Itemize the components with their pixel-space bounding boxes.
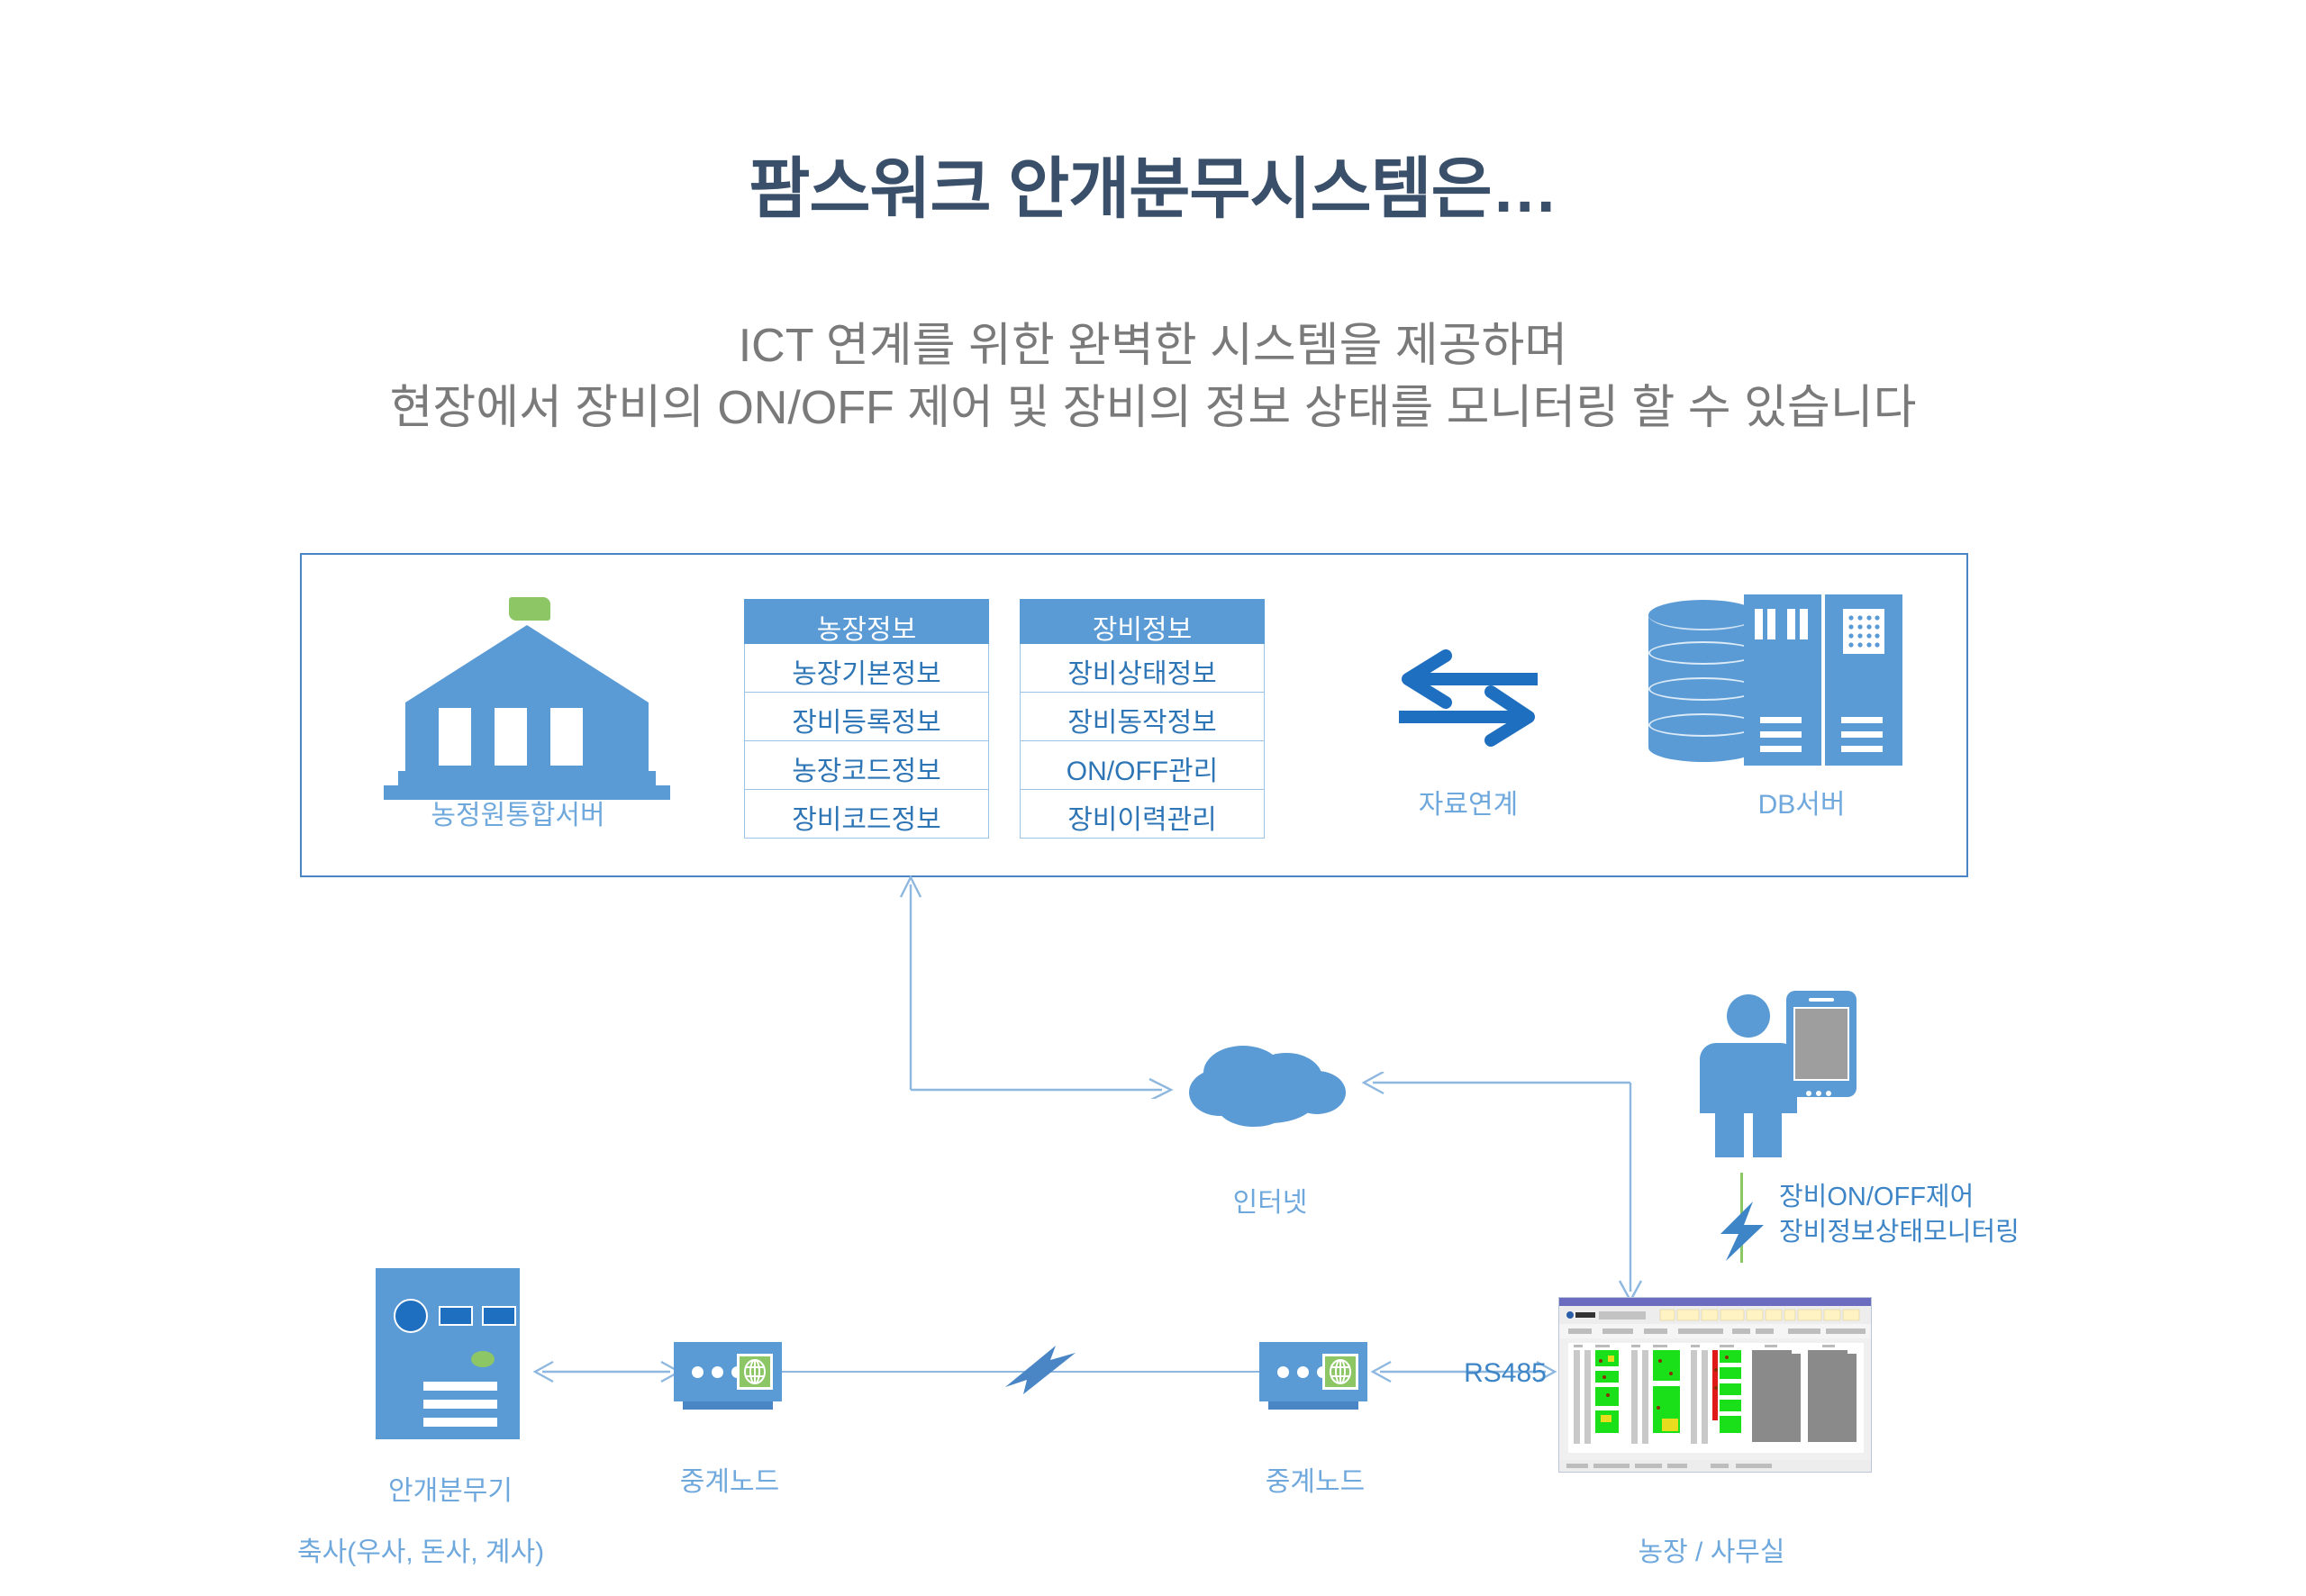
rack-indicator-icon [1767, 609, 1775, 639]
database-ring-icon [1648, 713, 1758, 737]
rack-indicator-icon [1787, 609, 1795, 639]
database-ring-icon [1648, 641, 1758, 665]
table-row: 장비상태정보 [1020, 644, 1265, 693]
page-subtitle: ICT 연계를 위한 완벽한 시스템을 제공하며 현장에서 장비의 ON/OFF… [0, 315, 2306, 439]
rack-line-icon [1841, 746, 1883, 752]
control-line-2: 장비정보상태모니터링 [1779, 1215, 2139, 1250]
relay-node-base-icon [1268, 1401, 1358, 1410]
building-column-icon [439, 708, 471, 766]
person-body-icon [1700, 1043, 1797, 1113]
relay-led-icon [1297, 1366, 1309, 1378]
relay-led-icon [1277, 1366, 1289, 1378]
data-exchange-label: 자료연계 [1351, 782, 1585, 821]
table-header: 농장정보 [744, 599, 989, 644]
relay-node-base-icon [683, 1401, 773, 1410]
device-info-table: 장비정보 장비상태정보 장비동작정보 ON/OFF관리 장비이력관리 [1020, 599, 1265, 839]
table-row: ON/OFF관리 [1020, 741, 1265, 790]
rack-grid-icon [1843, 609, 1884, 654]
window-toolbar-secondary [1559, 1324, 1871, 1338]
subtitle-line-2: 현장에서 장비의 ON/OFF 제어 및 장비의 정보 상태를 모니터링 할 수… [0, 377, 2306, 440]
control-line-1: 장비ON/OFF제어 [1779, 1180, 2139, 1215]
flag-icon [509, 597, 550, 621]
database-cylinder-bottom-icon [1648, 733, 1758, 762]
connector-cloud-to-panel [892, 865, 1198, 1099]
barn-label: 축사(우사, 돈사, 계사) [297, 1529, 604, 1569]
table-row: 농장기본정보 [744, 644, 989, 693]
connector-monitor-to-cloud [1351, 1072, 1657, 1306]
rack-indicator-icon [1800, 609, 1808, 639]
farm-office-label: 농장 / 사무실 [1513, 1529, 1910, 1569]
rack-line-icon [1841, 717, 1883, 723]
lightning-bolt-icon [1711, 1198, 1776, 1265]
sprayer-bar-icon [423, 1418, 497, 1427]
window-titlebar [1559, 1298, 1871, 1306]
sprayer-status-led-icon [471, 1351, 495, 1367]
sprayer-bar-icon [423, 1400, 497, 1409]
subtitle-line-1: ICT 연계를 위한 완벽한 시스템을 제공하며 [0, 315, 2306, 377]
relay-node-right-label: 중계노드 [1216, 1459, 1414, 1499]
table-row: 장비이력관리 [1020, 790, 1265, 839]
connector-sprayer-relay [530, 1358, 683, 1385]
monitoring-software-screenshot[interactable] [1558, 1297, 1872, 1473]
person-leg-icon [1753, 1108, 1782, 1157]
rack-line-icon [1760, 746, 1802, 752]
gov-server-label: 농정원통합서버 [342, 793, 694, 832]
relay-globe-icon [1322, 1354, 1358, 1390]
phone-buttons-icon [1806, 1084, 1837, 1090]
rs485-label: RS485 [1438, 1358, 1573, 1389]
database-ring-icon [1648, 677, 1758, 701]
phone-speaker-icon [1809, 998, 1834, 1002]
control-description: 장비ON/OFF제어 장비정보상태모니터링 [1779, 1180, 2139, 1250]
page-title: 팜스워크 안개분무시스템은… [0, 135, 2306, 231]
government-building-roof-icon [405, 625, 649, 703]
building-column-icon [495, 708, 527, 766]
wireless-lightning-icon [991, 1340, 1090, 1400]
window-statusbar [1559, 1460, 1871, 1472]
farm-info-table: 농장정보 농장기본정보 장비등록정보 농장코드정보 장비코드정보 [744, 599, 989, 839]
building-base-icon [398, 771, 656, 785]
sprayer-label: 안개분무기 [324, 1468, 576, 1508]
data-exchange-arrows-icon [1392, 648, 1545, 748]
table-header: 장비정보 [1020, 599, 1265, 644]
db-server-label: DB서버 [1684, 782, 1919, 821]
table-row: 장비동작정보 [1020, 693, 1265, 741]
relay-globe-icon [737, 1354, 773, 1390]
rack-line-icon [1760, 731, 1802, 738]
sprayer-display-icon [482, 1306, 516, 1326]
status-chart-area [1568, 1343, 1864, 1453]
rack-line-icon [1760, 717, 1802, 723]
relay-node-left-label: 중계노드 [631, 1459, 829, 1499]
phone-screen-icon [1793, 1007, 1849, 1081]
table-row: 농장코드정보 [744, 741, 989, 790]
page-title-rest: 안개분무시스템은… [991, 151, 1557, 226]
relay-led-icon [692, 1366, 704, 1378]
building-column-icon [550, 708, 583, 766]
rack-line-icon [1841, 731, 1883, 738]
table-row: 장비등록정보 [744, 693, 989, 741]
database-cylinder-top-icon [1648, 600, 1758, 630]
page-title-brand: 팜스워크 [749, 151, 990, 226]
person-leg-icon [1715, 1108, 1744, 1157]
sprayer-display-icon [439, 1306, 473, 1326]
internet-cloud-icon [1180, 1040, 1360, 1130]
internet-label: 인터넷 [1162, 1180, 1378, 1220]
fog-sprayer-icon [376, 1268, 520, 1439]
person-head-icon [1727, 994, 1770, 1038]
relay-led-icon [712, 1366, 723, 1378]
window-toolbar [1559, 1306, 1871, 1324]
table-row: 장비코드정보 [744, 790, 989, 839]
sprayer-dial-icon [394, 1299, 428, 1333]
rack-indicator-icon [1755, 609, 1763, 639]
sprayer-bar-icon [423, 1382, 497, 1391]
